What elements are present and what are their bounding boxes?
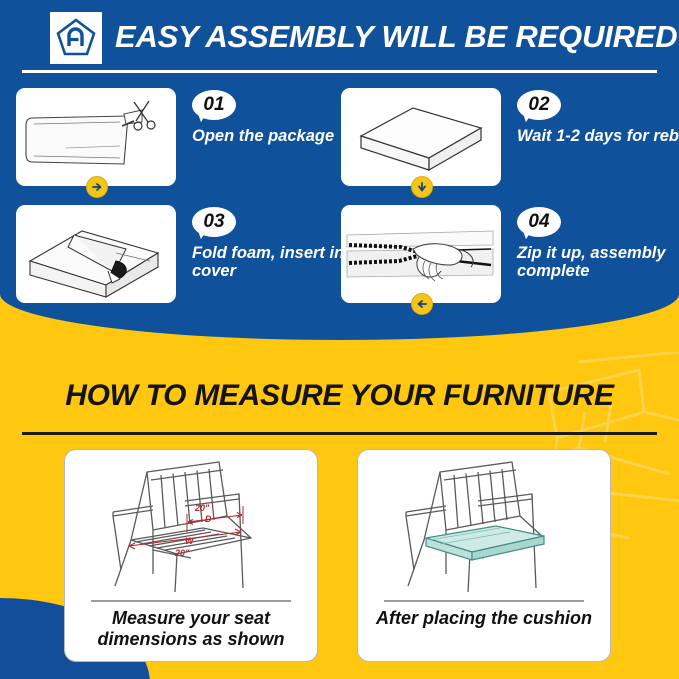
package-with-scissors-illustration [16, 88, 176, 186]
chair-with-dimensions-illustration: 20" D W 20" [65, 454, 317, 596]
step-number-bubble: 02 [517, 90, 561, 124]
arrow-right-icon [86, 176, 108, 198]
measure-card-caption: After placing the cushion [366, 608, 602, 629]
chair-with-cushion-illustration [358, 454, 610, 596]
step-text-02: 02 Wait 1-2 days for rebound [517, 90, 679, 145]
step-number-bubble: 03 [192, 207, 236, 241]
measure-card-dimensions: 20" D W 20" Measure your seat dimensions… [64, 449, 318, 662]
card-divider [91, 600, 291, 602]
assembly-steps: 01 Open the package [0, 88, 679, 310]
house-pentagon-icon [50, 12, 102, 64]
card-divider [384, 600, 584, 602]
svg-text:D: D [205, 514, 212, 524]
measure-section-divider [22, 432, 657, 435]
measure-section-title: HOW TO MEASURE YOUR FURNITURE [0, 379, 679, 413]
step-label: Zip it up, assembly complete [517, 244, 679, 280]
infographic-page: EASY ASSEMBLY WILL BE REQUIRED [0, 0, 679, 679]
svg-text:20": 20" [194, 503, 210, 513]
step-number: 01 [192, 90, 236, 120]
step-number: 02 [517, 90, 561, 120]
header-divider [22, 70, 657, 73]
measure-card-caption: Measure your seat dimensions as shown [73, 608, 309, 650]
step-number: 04 [517, 207, 561, 237]
step-item-01: 01 Open the package [16, 88, 346, 194]
header-title: EASY ASSEMBLY WILL BE REQUIRED [115, 12, 660, 62]
step-number-bubble: 01 [192, 90, 236, 124]
arrow-down-icon [411, 176, 433, 198]
header: EASY ASSEMBLY WILL BE REQUIRED [0, 0, 679, 72]
arrow-left-icon [411, 293, 433, 315]
step-number: 03 [192, 207, 236, 237]
flat-foam-slab-illustration [341, 88, 501, 186]
step-text-04: 04 Zip it up, assembly complete [517, 207, 679, 280]
step-label: Wait 1-2 days for rebound [517, 127, 679, 145]
measure-cards: 20" D W 20" Measure your seat dimensions… [0, 449, 679, 665]
hand-zipping-cushion-illustration [341, 205, 501, 303]
step-item-03: 03 Fold foam, insert into cover [16, 205, 346, 311]
step-item-04: 04 Zip it up, assembly complete [341, 205, 671, 311]
measure-card-cushion: After placing the cushion [357, 449, 611, 662]
folding-foam-into-cover-illustration [16, 205, 176, 303]
step-item-02: 02 Wait 1-2 days for rebound [341, 88, 671, 194]
step-number-bubble: 04 [517, 207, 561, 241]
svg-text:20": 20" [174, 548, 190, 558]
